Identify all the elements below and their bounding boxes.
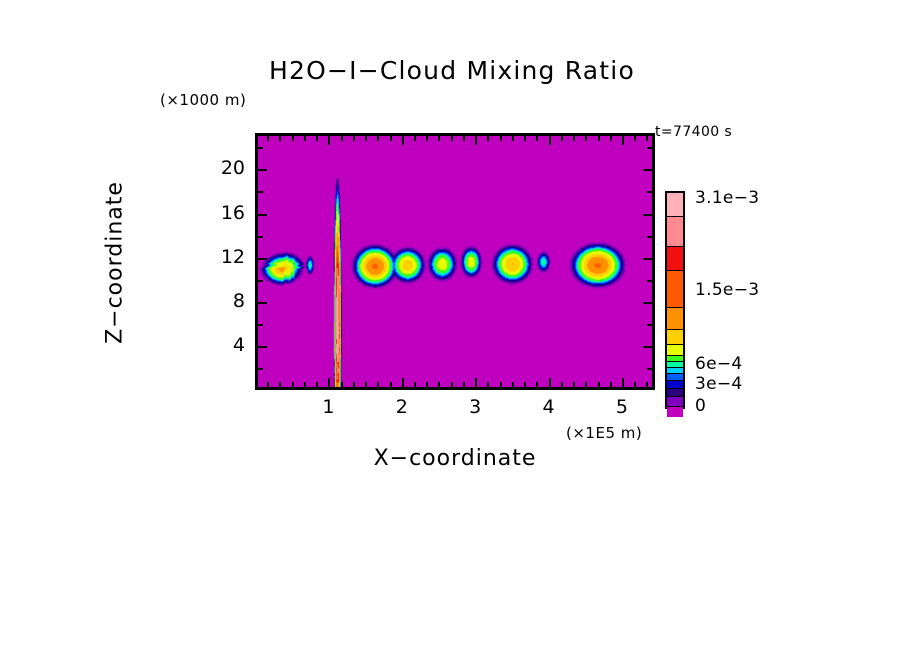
timestamp-annotation: t=77400 s (655, 124, 732, 140)
heatmap-field (258, 136, 652, 387)
x-tick-major (622, 378, 624, 387)
x-tick-minor (500, 382, 502, 387)
x-tick-minor (414, 136, 416, 141)
x-tick-minor (573, 136, 575, 141)
y-tick-minor (258, 236, 263, 238)
x-tick-major (549, 378, 551, 387)
x-tick-label: 3 (455, 396, 495, 418)
x-tick-minor (634, 136, 636, 141)
x-tick-minor (573, 382, 575, 387)
y-axis-title: Z−coordinate (103, 133, 128, 393)
x-tick-minor (463, 136, 465, 141)
x-tick-minor (304, 136, 306, 141)
colorbar-tick-label: 0 (695, 396, 706, 416)
y-tick-label: 12 (201, 246, 245, 268)
y-tick-minor (258, 324, 263, 326)
x-tick-minor (561, 382, 563, 387)
x-tick-minor (365, 382, 367, 387)
x-tick-minor (390, 382, 392, 387)
y-tick-minor (258, 191, 263, 193)
x-tick-minor (426, 136, 428, 141)
colorbar-segment (667, 374, 683, 381)
x-tick-minor (267, 136, 269, 141)
y-tick-label: 20 (201, 157, 245, 179)
x-tick-minor (610, 136, 612, 141)
x-axis-title: X−coordinate (255, 446, 655, 471)
colorbar-segment (667, 345, 683, 356)
x-tick-minor (390, 136, 392, 141)
x-tick-major (328, 378, 330, 387)
y-tick-major (643, 346, 652, 348)
x-tick-label: 1 (308, 396, 348, 418)
x-tick-minor (561, 136, 563, 141)
x-tick-minor (512, 382, 514, 387)
y-tick-major (643, 302, 652, 304)
x-tick-major (402, 378, 404, 387)
colorbar-segments (665, 191, 685, 409)
y-tick-minor (647, 191, 652, 193)
y-tick-minor (647, 324, 652, 326)
x-tick-minor (304, 382, 306, 387)
y-tick-label: 8 (201, 290, 245, 312)
y-tick-minor (647, 368, 652, 370)
x-tick-minor (634, 382, 636, 387)
x-tick-minor (598, 136, 600, 141)
x-tick-label: 2 (382, 396, 422, 418)
x-tick-minor (414, 382, 416, 387)
x-tick-minor (585, 136, 587, 141)
x-tick-minor (512, 136, 514, 141)
y-tick-major (258, 169, 267, 171)
x-tick-label: 5 (602, 396, 642, 418)
colorbar-tick-label: 1.5e−3 (695, 280, 759, 300)
y-tick-major (258, 214, 267, 216)
x-tick-minor (292, 382, 294, 387)
x-tick-minor (438, 136, 440, 141)
figure-canvas: H2O−I−Cloud Mixing Ratio (×1000 m) (×1E5… (0, 0, 904, 654)
y-tick-major (258, 346, 267, 348)
colorbar-tick-label: 6e−4 (695, 354, 743, 374)
x-tick-minor (353, 382, 355, 387)
colorbar-segment (667, 407, 683, 417)
x-tick-minor (267, 382, 269, 387)
x-tick-minor (524, 382, 526, 387)
x-tick-minor (377, 136, 379, 141)
colorbar-tick-label: 3e−4 (695, 374, 743, 394)
y-tick-label: 4 (201, 334, 245, 356)
colorbar-segment (667, 271, 683, 308)
x-tick-minor (536, 382, 538, 387)
x-tick-minor (426, 382, 428, 387)
x-tick-minor (377, 382, 379, 387)
x-tick-minor (451, 382, 453, 387)
y-tick-minor (647, 280, 652, 282)
colorbar-segment (667, 330, 683, 345)
plot-area (255, 133, 655, 390)
x-tick-minor (341, 382, 343, 387)
x-tick-minor (451, 136, 453, 141)
x-tick-minor (524, 136, 526, 141)
y-tick-major (258, 258, 267, 260)
colorbar-segment (667, 247, 683, 271)
x-tick-minor (487, 382, 489, 387)
y-tick-minor (647, 236, 652, 238)
x-tick-minor (438, 382, 440, 387)
y-tick-minor (258, 280, 263, 282)
x-tick-minor (279, 382, 281, 387)
x-tick-minor (316, 382, 318, 387)
x-tick-minor (365, 136, 367, 141)
colorbar-segment (667, 381, 683, 389)
colorbar-segment (667, 389, 683, 397)
colorbar-segment (667, 397, 683, 407)
colorbar-tick-label: 3.1e−3 (695, 188, 759, 208)
x-tick-major (549, 136, 551, 145)
x-tick-minor (353, 136, 355, 141)
x-tick-minor (598, 382, 600, 387)
colorbar-segment (667, 193, 683, 217)
x-tick-major (622, 136, 624, 145)
x-tick-minor (500, 136, 502, 141)
y-tick-major (258, 302, 267, 304)
x-tick-label: 4 (529, 396, 569, 418)
y-tick-major (643, 258, 652, 260)
x-tick-minor (536, 136, 538, 141)
x-tick-minor (610, 382, 612, 387)
x-tick-minor (316, 136, 318, 141)
x-tick-minor (487, 136, 489, 141)
x-tick-minor (463, 382, 465, 387)
x-tick-minor (292, 136, 294, 141)
colorbar-segment (667, 217, 683, 247)
x-axis-unit-label: (×1E5 m) (566, 424, 642, 442)
colorbar-segment (667, 308, 683, 330)
y-tick-major (643, 214, 652, 216)
x-tick-minor (646, 382, 648, 387)
x-tick-minor (646, 136, 648, 141)
x-tick-minor (279, 136, 281, 141)
x-tick-minor (585, 382, 587, 387)
page-title: H2O−I−Cloud Mixing Ratio (0, 56, 904, 85)
y-tick-minor (258, 368, 263, 370)
y-tick-major (643, 169, 652, 171)
y-tick-minor (647, 147, 652, 149)
x-tick-major (402, 136, 404, 145)
y-tick-label: 16 (201, 202, 245, 224)
y-tick-minor (258, 147, 263, 149)
x-tick-major (475, 378, 477, 387)
x-tick-major (328, 136, 330, 145)
z-axis-unit-label: (×1000 m) (160, 91, 246, 109)
x-tick-minor (341, 136, 343, 141)
x-tick-major (475, 136, 477, 145)
